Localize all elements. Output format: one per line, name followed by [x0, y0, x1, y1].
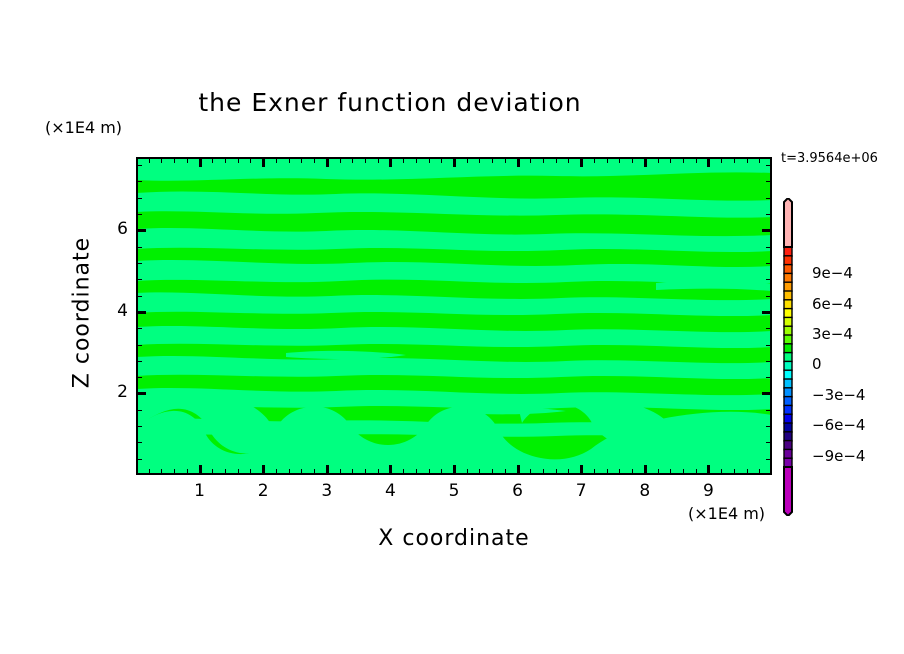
x-axis-minor-tick	[212, 157, 213, 163]
y-axis-tick-label: 2	[98, 382, 128, 402]
y-axis-minor-tick	[136, 442, 142, 443]
x-axis-major-tick	[326, 465, 329, 475]
x-axis-top-major-tick	[389, 157, 392, 167]
y-axis-minor-tick	[136, 328, 142, 329]
y-axis-minor-tick	[766, 181, 772, 182]
y-axis-minor-tick	[136, 198, 142, 199]
x-axis-minor-tick	[225, 469, 226, 475]
y-axis-right-major-tick	[762, 229, 772, 232]
y-axis-tick-label: 6	[98, 219, 128, 239]
x-axis-minor-tick	[594, 157, 595, 163]
y-axis-minor-tick	[766, 296, 772, 297]
colorbar-swatch	[784, 300, 792, 309]
y-axis-tick-label: 4	[98, 301, 128, 321]
y-axis-minor-tick	[766, 263, 772, 264]
x-axis-minor-tick	[632, 469, 633, 475]
x-axis-minor-tick	[492, 157, 493, 163]
x-axis-minor-tick	[365, 157, 366, 163]
x-axis-minor-tick	[747, 157, 748, 163]
y-axis-minor-tick	[766, 361, 772, 362]
colorbar-swatch	[784, 423, 792, 432]
x-axis-minor-tick	[619, 469, 620, 475]
y-axis-minor-tick	[766, 328, 772, 329]
x-axis-minor-tick	[378, 157, 379, 163]
y-axis-minor-tick	[136, 459, 142, 460]
colorbar-swatch	[784, 317, 792, 326]
x-axis-minor-tick	[492, 469, 493, 475]
x-axis-minor-tick	[556, 469, 557, 475]
x-axis-top-major-tick	[453, 157, 456, 167]
x-axis-minor-tick	[276, 469, 277, 475]
x-axis-minor-tick	[696, 469, 697, 475]
colorbar-swatch	[784, 353, 792, 362]
x-axis-minor-tick	[174, 469, 175, 475]
y-axis-right-major-tick	[762, 392, 772, 395]
x-axis-minor-tick	[530, 157, 531, 163]
figure-canvas: the Exner function deviation (×1E4 m) t=…	[0, 0, 904, 654]
x-axis-tick-label: 6	[503, 481, 533, 501]
y-axis-minor-tick	[766, 459, 772, 460]
x-axis-minor-tick	[543, 157, 544, 163]
x-axis-minor-tick	[721, 157, 722, 163]
x-axis-major-tick	[199, 465, 202, 475]
x-axis-minor-tick	[734, 157, 735, 163]
y-axis-minor-tick	[136, 247, 142, 248]
y-axis-minor-tick	[766, 377, 772, 378]
x-axis-minor-tick	[352, 469, 353, 475]
x-axis-minor-tick	[721, 469, 722, 475]
x-axis-top-major-tick	[326, 157, 329, 167]
colorbar-swatch	[784, 265, 792, 274]
y-axis-right-major-tick	[762, 311, 772, 314]
x-axis-minor-tick	[289, 469, 290, 475]
y-axis-minor-tick	[766, 214, 772, 215]
x-axis-major-tick	[453, 465, 456, 475]
x-axis-minor-tick	[543, 469, 544, 475]
y-axis-minor-tick	[136, 165, 142, 166]
x-axis-minor-tick	[632, 157, 633, 163]
y-axis-minor-tick	[136, 345, 142, 346]
x-axis-top-major-tick	[262, 157, 265, 167]
x-axis-minor-tick	[594, 469, 595, 475]
x-axis-minor-tick	[340, 469, 341, 475]
x-axis-minor-tick	[340, 157, 341, 163]
x-axis-minor-tick	[416, 157, 417, 163]
colorbar-swatch	[784, 441, 792, 450]
x-axis-minor-tick	[161, 157, 162, 163]
y-axis-minor-tick	[766, 247, 772, 248]
x-axis-minor-tick	[289, 157, 290, 163]
x-axis-minor-tick	[607, 469, 608, 475]
x-axis-minor-tick	[759, 157, 760, 163]
x-axis-tick-label: 9	[693, 481, 723, 501]
x-axis-top-major-tick	[517, 157, 520, 167]
x-axis-minor-tick	[696, 157, 697, 163]
y-axis-minor-tick	[766, 442, 772, 443]
colorbar-swatch	[784, 344, 792, 353]
y-axis-minor-tick	[136, 279, 142, 280]
x-axis-minor-tick	[314, 469, 315, 475]
x-axis-minor-tick	[352, 157, 353, 163]
colorbar-swatch	[784, 247, 792, 256]
x-axis-minor-tick	[530, 469, 531, 475]
x-axis-minor-tick	[429, 469, 430, 475]
colorbar-swatch	[784, 370, 792, 379]
x-axis-minor-tick	[301, 157, 302, 163]
x-axis-major-tick	[644, 465, 647, 475]
x-axis-minor-tick	[568, 157, 569, 163]
y-axis-major-tick	[136, 392, 146, 395]
y-axis-minor-tick	[136, 361, 142, 362]
colorbar-swatch	[784, 405, 792, 414]
x-axis-tick-label: 2	[248, 481, 278, 501]
x-axis-minor-tick	[276, 157, 277, 163]
x-axis-minor-tick	[174, 157, 175, 163]
x-axis-minor-tick	[238, 469, 239, 475]
x-axis-tick-label: 4	[375, 481, 405, 501]
x-axis-minor-tick	[441, 157, 442, 163]
x-axis-minor-tick	[365, 469, 366, 475]
x-axis-minor-tick	[467, 469, 468, 475]
y-axis-title: Z coordinate	[70, 203, 95, 423]
x-axis-minor-tick	[238, 157, 239, 163]
x-axis-minor-tick	[658, 469, 659, 475]
colorbar-swatch	[784, 326, 792, 335]
x-axis-minor-tick	[403, 469, 404, 475]
x-axis-tick-label: 7	[566, 481, 596, 501]
x-axis-minor-tick	[212, 469, 213, 475]
colorbar-swatch	[784, 432, 792, 441]
x-axis-minor-tick	[187, 469, 188, 475]
x-axis-minor-tick	[225, 157, 226, 163]
x-axis-minor-tick	[149, 469, 150, 475]
x-axis-minor-tick	[658, 157, 659, 163]
colorbar-tick-label: −6e−4	[812, 416, 865, 434]
x-axis-minor-tick	[467, 157, 468, 163]
y-axis-minor-tick	[136, 296, 142, 297]
x-axis-minor-tick	[149, 157, 150, 163]
page-title: the Exner function deviation	[0, 88, 780, 117]
x-axis-unit-label: (×1E4 m)	[688, 504, 765, 523]
colorbar-tick-label: −9e−4	[812, 447, 865, 465]
x-axis-minor-tick	[734, 469, 735, 475]
colorbar-tick-label: 0	[812, 355, 822, 373]
x-axis-minor-tick	[556, 157, 557, 163]
y-axis-minor-tick	[766, 345, 772, 346]
y-axis-major-tick	[136, 229, 146, 232]
y-axis-minor-tick	[766, 410, 772, 411]
y-axis-unit-label: (×1E4 m)	[45, 118, 122, 137]
x-axis-top-major-tick	[580, 157, 583, 167]
y-axis-minor-tick	[766, 198, 772, 199]
colorbar: 9e−46e−43e−40−3e−4−6e−4−9e−4	[778, 198, 898, 516]
x-axis-major-tick	[580, 465, 583, 475]
y-axis-minor-tick	[136, 377, 142, 378]
x-axis-minor-tick	[619, 157, 620, 163]
x-axis-tick-label: 8	[630, 481, 660, 501]
x-axis-minor-tick	[505, 469, 506, 475]
x-axis-minor-tick	[161, 469, 162, 475]
colorbar-tick-label: 6e−4	[812, 295, 853, 313]
x-axis-major-tick	[707, 465, 710, 475]
x-axis-title: X coordinate	[136, 526, 772, 551]
y-axis-major-tick	[136, 311, 146, 314]
x-axis-top-major-tick	[644, 157, 647, 167]
x-axis-minor-tick	[250, 469, 251, 475]
x-axis-major-tick	[517, 465, 520, 475]
x-axis-major-tick	[262, 465, 265, 475]
x-axis-minor-tick	[403, 157, 404, 163]
x-axis-tick-label: 5	[439, 481, 469, 501]
x-axis-minor-tick	[479, 469, 480, 475]
x-axis-minor-tick	[670, 469, 671, 475]
colorbar-swatch	[784, 388, 792, 397]
time-annotation: t=3.9564e+06	[781, 151, 878, 166]
colorbar-swatch	[784, 361, 792, 370]
x-axis-minor-tick	[683, 157, 684, 163]
x-axis-minor-tick	[607, 157, 608, 163]
y-axis-minor-tick	[136, 214, 142, 215]
x-axis-minor-tick	[429, 157, 430, 163]
y-axis-minor-tick	[136, 426, 142, 427]
y-axis-minor-tick	[136, 263, 142, 264]
colorbar-swatch	[784, 449, 792, 458]
colorbar-swatch	[784, 282, 792, 291]
x-axis-minor-tick	[378, 469, 379, 475]
x-axis-minor-tick	[568, 469, 569, 475]
x-axis-major-tick	[389, 465, 392, 475]
x-axis-tick-label: 1	[185, 481, 215, 501]
x-axis-minor-tick	[479, 157, 480, 163]
x-axis-minor-tick	[683, 469, 684, 475]
x-axis-minor-tick	[187, 157, 188, 163]
colorbar-tick-label: 9e−4	[812, 264, 853, 282]
colorbar-swatch	[784, 335, 792, 344]
y-axis-minor-tick	[766, 426, 772, 427]
colorbar-swatch	[784, 273, 792, 282]
colorbar-swatch	[784, 414, 792, 423]
x-axis-minor-tick	[314, 157, 315, 163]
colorbar-swatch	[784, 379, 792, 388]
x-axis-top-major-tick	[199, 157, 202, 167]
x-axis-minor-tick	[301, 469, 302, 475]
colorbar-swatch	[784, 397, 792, 406]
colorbar-tick-label: 3e−4	[812, 325, 853, 343]
contour-field	[136, 157, 772, 475]
x-axis-minor-tick	[441, 469, 442, 475]
x-axis-minor-tick	[759, 469, 760, 475]
x-axis-tick-label: 3	[312, 481, 342, 501]
x-axis-minor-tick	[670, 157, 671, 163]
colorbar-tick-label: −3e−4	[812, 386, 865, 404]
colorbar-swatch	[784, 291, 792, 300]
x-axis-minor-tick	[250, 157, 251, 163]
y-axis-minor-tick	[136, 410, 142, 411]
colorbar-swatch	[784, 256, 792, 265]
y-axis-minor-tick	[766, 165, 772, 166]
x-axis-minor-tick	[505, 157, 506, 163]
y-axis-minor-tick	[136, 181, 142, 182]
y-axis-minor-tick	[766, 279, 772, 280]
x-axis-top-major-tick	[707, 157, 710, 167]
colorbar-swatch	[784, 309, 792, 318]
x-axis-minor-tick	[416, 469, 417, 475]
x-axis-minor-tick	[747, 469, 748, 475]
plot-area	[136, 157, 772, 475]
